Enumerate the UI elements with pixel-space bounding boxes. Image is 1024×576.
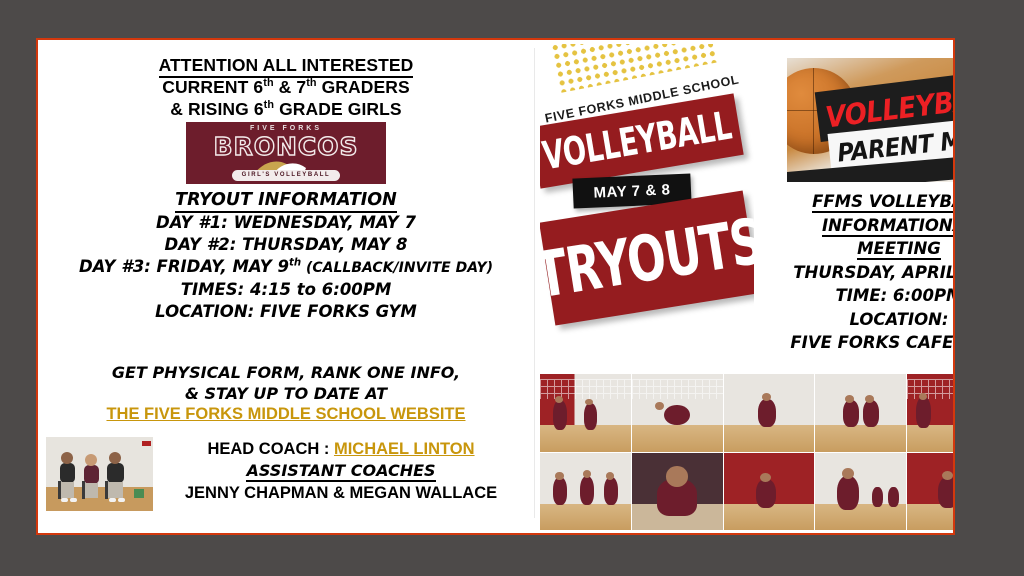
logo-banner-text: GIRL'S VOLLEYBALL xyxy=(232,170,340,181)
tryout-day-1: DAY #1: WEDNESDAY, MAY 7 xyxy=(38,212,534,234)
tryout-information-title: TRYOUT INFORMATION xyxy=(38,190,534,210)
physical-form-block: GET PHYSICAL FORM, RANK ONE INFO, & STAY… xyxy=(38,362,534,425)
physical-form-line-2: & STAY UP TO DATE AT xyxy=(38,383,534,404)
photo-collage xyxy=(540,374,955,530)
head-coach-line: HEAD COACH : MICHAEL LINTON xyxy=(148,438,534,460)
right-column: FIVE FORKS MIDDLE SCHOOL VOLLEYBALL MAY … xyxy=(534,40,955,533)
collage-photo xyxy=(724,374,815,452)
collage-photo xyxy=(724,453,815,531)
sup-th-4: th xyxy=(289,258,301,269)
grades-line: CURRENT 6th & 7th GRADERS xyxy=(38,77,534,98)
collage-photo xyxy=(632,453,723,531)
tryout-day-3: DAY #3: FRIDAY, MAY 9th (CALLBACK/INVITE… xyxy=(38,256,534,279)
attention-heading: ATTENTION ALL INTERESTED xyxy=(38,55,534,76)
tryout-location: LOCATION: FIVE FORKS GYM xyxy=(38,301,534,323)
meeting-date: THURSDAY, APRIL 24th xyxy=(770,261,955,285)
flyer-slide: ATTENTION ALL INTERESTED CURRENT 6th & 7… xyxy=(36,38,955,535)
collage-photo xyxy=(540,374,631,452)
meeting-title-line-2: INFORMATIONAL xyxy=(770,214,955,238)
collage-photo xyxy=(907,374,955,452)
sup-th-1: th xyxy=(263,77,273,89)
left-column: ATTENTION ALL INTERESTED CURRENT 6th & 7… xyxy=(38,40,534,533)
head-coach-name[interactable]: MICHAEL LINTON xyxy=(334,440,475,458)
meeting-title-line-1: FFMS VOLLEYBALL xyxy=(770,190,955,214)
parent-meeting-image: VOLLEYBALL PARENT MEETING xyxy=(787,58,955,182)
coaches-block: HEAD COACH : MICHAEL LINTON ASSISTANT CO… xyxy=(148,438,534,505)
collage-photo xyxy=(815,374,906,452)
tryout-information-list: DAY #1: WEDNESDAY, MAY 7 DAY #2: THURSDA… xyxy=(38,212,534,323)
broncos-logo: FIVE FORKS BRONCOS GIRL'S VOLLEYBALL xyxy=(186,122,386,184)
volleyball-tryouts-poster: FIVE FORKS MIDDLE SCHOOL VOLLEYBALL MAY … xyxy=(540,44,754,374)
logo-five-forks-text: FIVE FORKS xyxy=(186,125,386,132)
collage-photo xyxy=(632,374,723,452)
sup-th-3: th xyxy=(264,99,274,111)
meeting-location-value: FIVE FORKS CAFETERIA xyxy=(770,331,955,355)
physical-form-line-1: GET PHYSICAL FORM, RANK ONE INFO, xyxy=(38,362,534,383)
tryout-times: TIMES: 4:15 to 6:00PM xyxy=(38,279,534,301)
meeting-title-line-3: MEETING xyxy=(770,237,955,261)
head-coach-label: HEAD COACH : xyxy=(207,440,334,458)
assistant-coaches-title: ASSISTANT COACHES xyxy=(148,460,534,482)
collage-photo xyxy=(815,453,906,531)
meeting-time: TIME: 6:00PM xyxy=(770,284,955,308)
school-website-link[interactable]: THE FIVE FORKS MIDDLE SCHOOL WEBSITE xyxy=(38,404,534,425)
meeting-location-label: LOCATION: xyxy=(770,308,955,332)
attention-heading-text: ATTENTION ALL INTERESTED xyxy=(159,55,414,78)
collage-photo xyxy=(907,453,955,531)
sup-th-2: th xyxy=(306,77,316,89)
poster-tryouts-banner: TRYOUTS xyxy=(540,191,754,326)
tryout-day-2: DAY #2: THURSDAY, MAY 8 xyxy=(38,234,534,256)
informational-meeting-block: FFMS VOLLEYBALL INFORMATIONAL MEETING TH… xyxy=(770,190,955,355)
coaches-photo xyxy=(46,437,153,511)
assistant-coaches-names: JENNY CHAPMAN & MEGAN WALLACE xyxy=(148,482,534,505)
rising-grade-line: & RISING 6th GRADE GIRLS xyxy=(38,99,534,120)
collage-photo xyxy=(540,453,631,531)
coaches-photo-illustration xyxy=(46,437,153,511)
